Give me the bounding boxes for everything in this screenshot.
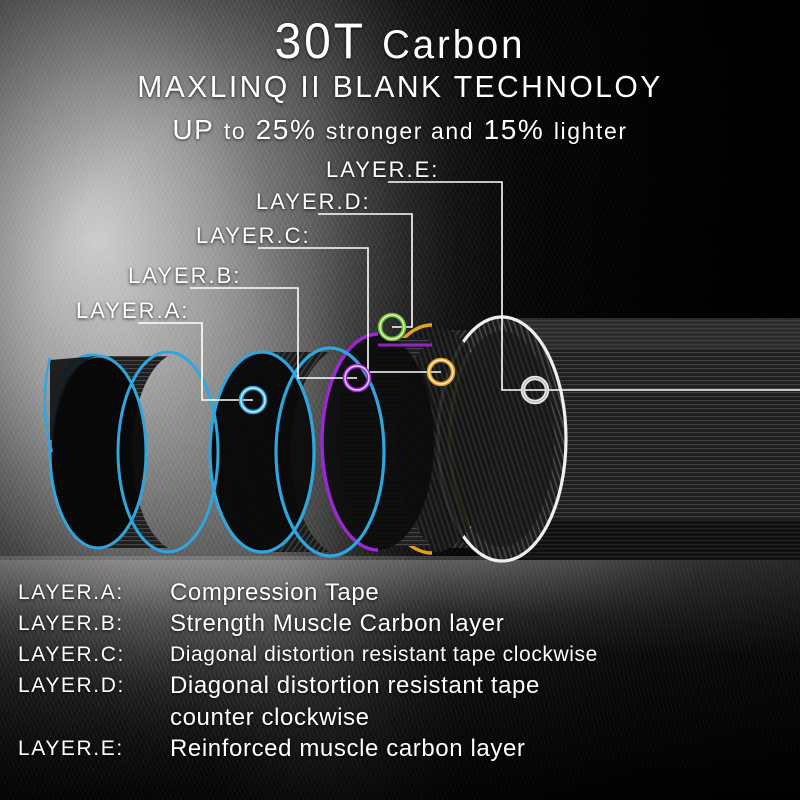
page-title: 30T Carbon (16, 0, 784, 72)
tube-layer-c-ring (322, 334, 434, 550)
legend-value-d-line2: counter clockwise (170, 702, 788, 734)
legend-value-e: Reinforced muscle carbon layer (170, 734, 526, 764)
legend-value-c: Diagonal distortion resistant tape clock… (170, 640, 598, 670)
legend-value-d: Diagonal distortion resistant tape (170, 671, 540, 701)
header-block: 30T Carbon MAXLINQ II BLANK TECHNOLOY UP… (0, 0, 800, 160)
page-tagline: UP to 25% stronger and 15% lighter (0, 114, 800, 147)
legend-key-d: LAYER.D: (18, 671, 170, 701)
tagline-15: 15% (484, 114, 545, 145)
legend-row-c: LAYER.C: Diagonal distortion resistant t… (18, 640, 788, 670)
callout-label-c: LAYER.C: (196, 223, 311, 249)
callout-label-d: LAYER.D: (256, 189, 371, 215)
callout-label-b: LAYER.B: (128, 263, 241, 289)
legend-key-b: LAYER.B: (18, 609, 170, 639)
legend-value-a: Compression Tape (170, 578, 379, 608)
callout-label-a: LAYER.A: (76, 298, 189, 324)
tagline-stronger: stronger and (326, 118, 474, 144)
page-subtitle: MAXLINQ II BLANK TECHNOLOY (12, 70, 788, 104)
legend-row-d: LAYER.D: Diagonal distortion resistant t… (18, 671, 788, 701)
legend-value-b: Strength Muscle Carbon layer (170, 609, 504, 639)
legend-row-e: LAYER.E: Reinforced muscle carbon layer (18, 734, 788, 764)
tagline-to: to (224, 118, 246, 144)
legend-key-c: LAYER.C: (18, 640, 170, 670)
infographic-canvas: 30T Carbon MAXLINQ II BLANK TECHNOLOY UP… (0, 0, 800, 800)
title-rest: Carbon (382, 23, 525, 67)
title-main: 30T (275, 13, 366, 69)
leader-line-d (318, 214, 412, 327)
tube-layer-a-sleeve (45, 352, 218, 552)
legend-key-e: LAYER.E: (18, 734, 170, 764)
tagline-up: UP (172, 114, 214, 145)
callout-label-e: LAYER.E: (326, 157, 439, 183)
tagline-25: 25% (256, 114, 317, 145)
layer-legend: LAYER.A: Compression Tape LAYER.B: Stren… (18, 578, 788, 765)
tagline-lighter: lighter (554, 118, 628, 144)
legend-row-b: LAYER.B: Strength Muscle Carbon layer (18, 609, 788, 639)
legend-row-a: LAYER.A: Compression Tape (18, 578, 788, 608)
legend-key-a: LAYER.A: (18, 578, 170, 608)
